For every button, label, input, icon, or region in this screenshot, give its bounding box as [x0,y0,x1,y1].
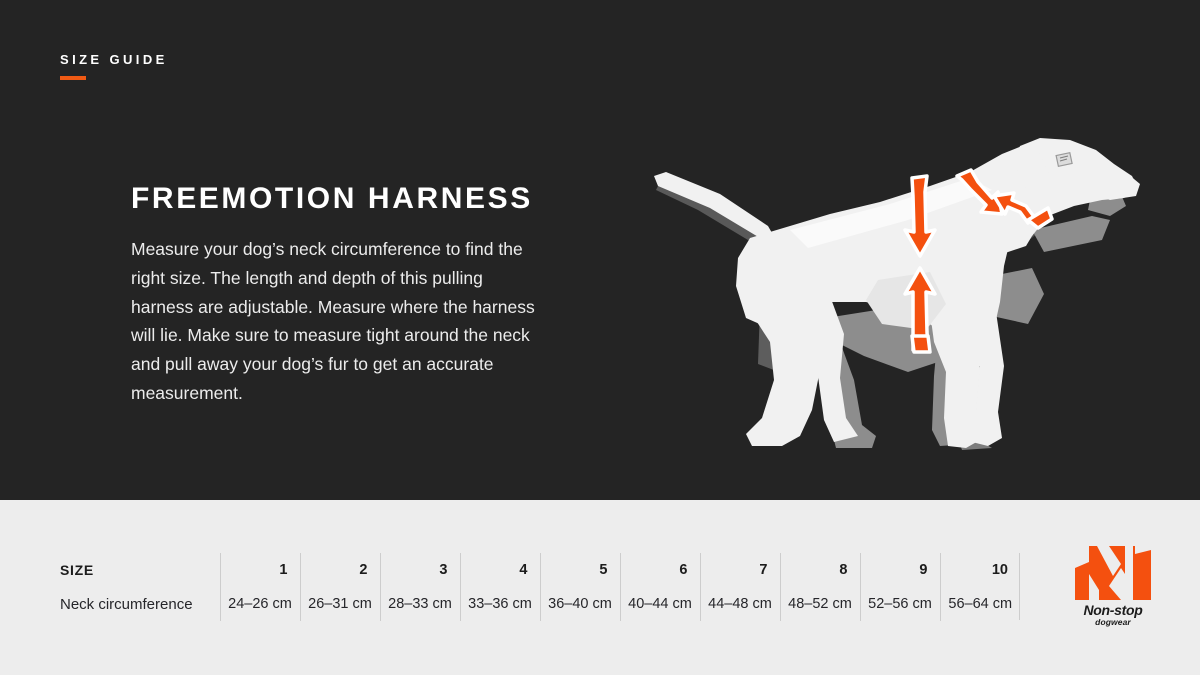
table-header-size-5: 5 [540,553,620,587]
table-header-size-10: 10 [940,553,1020,587]
neck-value-5: 36–40 cm [540,587,620,621]
dog-illustration [640,80,1160,450]
neck-value-3: 28–33 cm [380,587,460,621]
size-guide-page: SIZE GUIDE FREEMOTION HARNESS Measure yo… [0,0,1200,675]
table-header-size: SIZE [58,553,220,587]
non-stop-logo-mark [1075,546,1151,600]
neck-value-1: 24–26 cm [220,587,300,621]
neck-value-7: 44–48 cm [700,587,780,621]
page-title: FREEMOTION HARNESS [131,182,533,216]
table-header-size-3: 3 [380,553,460,587]
table-right-divider [1019,553,1020,620]
brand-logo: Non-stop dogwear [1075,546,1157,628]
eyebrow-label: SIZE GUIDE [60,52,168,67]
table-header-size-8: 8 [780,553,860,587]
row-label-neck-circumference: Neck circumference [58,587,220,621]
size-table: SIZE 1 2 3 4 5 6 7 8 9 10 Neck circumfer… [58,553,1020,621]
hero-section: SIZE GUIDE FREEMOTION HARNESS Measure yo… [0,0,1200,500]
neck-value-2: 26–31 cm [300,587,380,621]
dog-body-layer [654,138,1140,448]
table-header-size-7: 7 [700,553,780,587]
logo-brand-name: Non-stop [1075,603,1151,617]
eyebrow-accent-rule [60,76,86,80]
size-table-section: SIZE 1 2 3 4 5 6 7 8 9 10 Neck circumfer… [0,500,1200,675]
logo-wordmark: Non-stop dogwear [1075,603,1151,627]
table-header-size-4: 4 [460,553,540,587]
table-header-size-6: 6 [620,553,700,587]
table-header-row: SIZE 1 2 3 4 5 6 7 8 9 10 [58,553,1020,587]
neck-value-4: 33–36 cm [460,587,540,621]
neck-value-9: 52–56 cm [860,587,940,621]
table-row: Neck circumference 24–26 cm 26–31 cm 28–… [58,587,1020,621]
logo-tagline: dogwear [1075,618,1151,627]
table-header-size-2: 2 [300,553,380,587]
instructions-paragraph: Measure your dog’s neck circumference to… [131,235,543,408]
neck-value-8: 48–52 cm [780,587,860,621]
collar-tag-icon [1056,153,1072,167]
table-header-size-1: 1 [220,553,300,587]
table-header-size-9: 9 [860,553,940,587]
chest-arrow-bottom-curve [912,336,930,352]
neck-value-10: 56–64 cm [940,587,1020,621]
neck-value-6: 40–44 cm [620,587,700,621]
